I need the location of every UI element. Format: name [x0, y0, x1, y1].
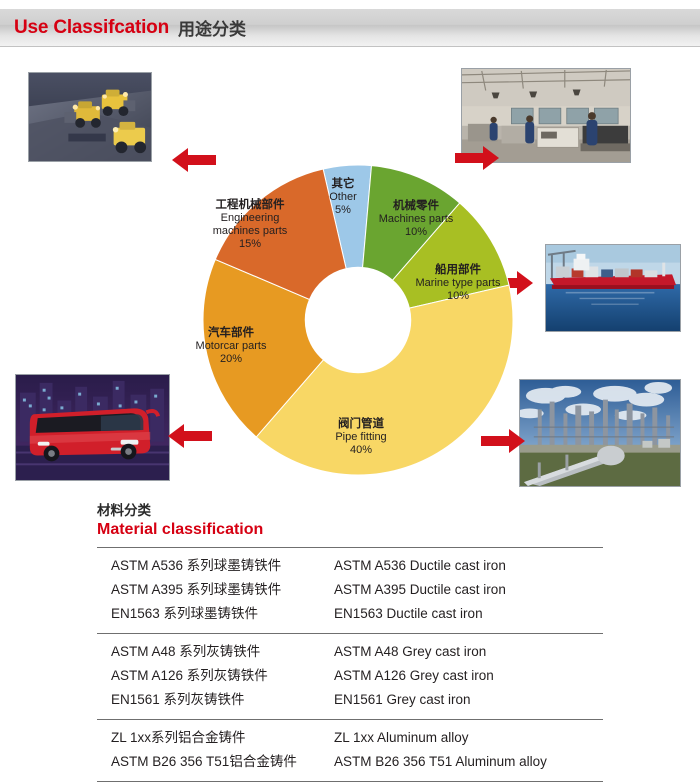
material-cell-cn: ASTM A395 系列球墨铸铁件 [97, 578, 334, 598]
photo-container-ship [545, 244, 681, 332]
material-cell-cn: ASTM A126 系列灰铸铁件 [97, 664, 334, 684]
material-cell-en: ASTM A395 Ductile cast iron [334, 582, 603, 597]
material-cell-cn: ASTM B26 356 T51铝合金铸件 [97, 750, 334, 770]
page-header: Use Classifcation 用途分类 [14, 9, 686, 46]
table-row: EN1561 系列灰铸铁件EN1561 Grey cast iron [97, 688, 603, 712]
material-cell-en: ASTM A536 Ductile cast iron [334, 558, 603, 573]
page-title-cn: 用途分类 [178, 15, 246, 40]
material-title-cn: 材料分类 [97, 503, 603, 519]
material-cell-en: ASTM B26 356 T51 Aluminum alloy [334, 754, 603, 769]
table-row: EN1563 系列球墨铸铁件EN1563 Ductile cast iron [97, 602, 603, 626]
material-cell-en: EN1561 Grey cast iron [334, 692, 603, 707]
photo-oil-refinery [519, 379, 681, 487]
material-table: ASTM A536 系列球墨铸铁件ASTM A536 Ductile cast … [97, 547, 603, 782]
table-row: ASTM A48 系列灰铸铁件ASTM A48 Grey cast iron [97, 640, 603, 664]
photo-coach-bus [15, 374, 170, 481]
material-cell-en: EN1563 Ductile cast iron [334, 606, 603, 621]
table-row: ASTM A536 系列球墨铸铁件ASTM A536 Ductile cast … [97, 554, 603, 578]
page-title-en: Use Classifcation [14, 17, 169, 39]
material-cell-cn: ASTM A536 系列球墨铸铁件 [97, 554, 334, 574]
photo-construction-loaders [28, 72, 152, 162]
table-row: ZL 1xx系列铝合金铸件ZL 1xx Aluminum alloy [97, 726, 603, 750]
material-cell-cn: EN1563 系列球墨铸铁件 [97, 602, 334, 622]
material-cell-cn: EN1561 系列灰铸铁件 [97, 688, 334, 708]
material-group-grey-cast-iron: ASTM A48 系列灰铸铁件ASTM A48 Grey cast ironAS… [97, 634, 603, 720]
table-row: ASTM A395 系列球墨铸铁件ASTM A395 Ductile cast … [97, 578, 603, 602]
material-cell-en: ZL 1xx Aluminum alloy [334, 730, 603, 745]
material-cell-en: ASTM A126 Grey cast iron [334, 668, 603, 683]
material-group-aluminum-alloy: ZL 1xx系列铝合金铸件ZL 1xx Aluminum alloyASTM B… [97, 720, 603, 782]
material-cell-cn: ASTM A48 系列灰铸铁件 [97, 640, 334, 660]
donut-svg [198, 160, 518, 480]
material-cell-en: ASTM A48 Grey cast iron [334, 644, 603, 659]
material-classification-section: 材料分类 Material classification ASTM A536 系… [97, 503, 603, 782]
material-group-ductile-cast-iron: ASTM A536 系列球墨铸铁件ASTM A536 Ductile cast … [97, 548, 603, 634]
use-classification-donut-chart [198, 160, 518, 480]
material-cell-cn: ZL 1xx系列铝合金铸件 [97, 726, 334, 746]
table-row: ASTM A126 系列灰铸铁件ASTM A126 Grey cast iron [97, 664, 603, 688]
material-title-en: Material classification [97, 520, 603, 540]
